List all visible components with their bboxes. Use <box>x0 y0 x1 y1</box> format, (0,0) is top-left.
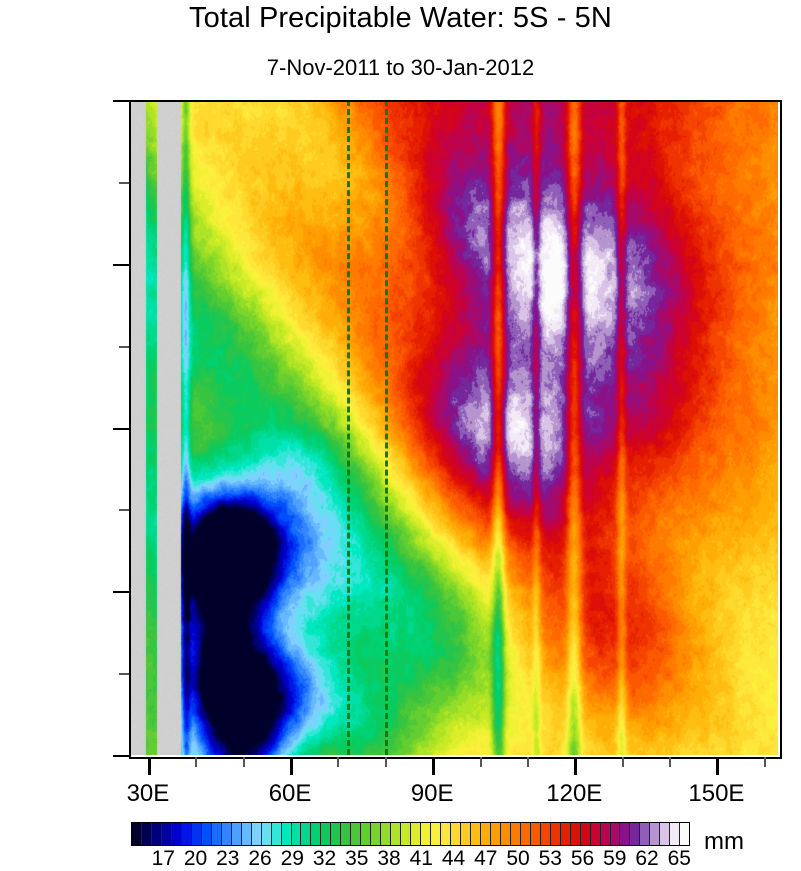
y-axis-major-tick <box>113 264 129 266</box>
colorbar-swatch <box>591 823 601 845</box>
colorbar-swatch <box>311 823 321 845</box>
colorbar-swatch <box>531 823 541 845</box>
colorbar-tick-label: 65 <box>649 847 709 871</box>
colorbar-swatch <box>491 823 501 845</box>
colorbar-swatch <box>401 823 411 845</box>
colorbar-swatch <box>361 823 371 845</box>
x-axis-major-tick <box>574 757 577 775</box>
x-axis-tick-label: 120E <box>514 780 634 808</box>
y-axis-minor-tick <box>119 673 129 675</box>
colorbar-swatch <box>481 823 491 845</box>
y-axis-minor-tick <box>119 509 129 511</box>
colorbar-swatch <box>541 823 551 845</box>
page-title: Total Precipitable Water: 5S - 5N <box>0 2 801 35</box>
colorbar-swatch <box>431 823 441 845</box>
colorbar-swatch <box>670 823 680 845</box>
colorbar-swatch <box>282 823 292 845</box>
x-axis-minor-tick <box>764 757 766 767</box>
colorbar-swatch <box>262 823 272 845</box>
colorbar-units-label: mm <box>704 828 744 856</box>
colorbar-swatch <box>301 823 311 845</box>
colorbar-swatch <box>451 823 461 845</box>
colorbar-swatch <box>411 823 421 845</box>
precipitable-water-heatmap <box>129 100 778 755</box>
x-axis-minor-tick <box>622 757 624 767</box>
colorbar-swatch <box>381 823 391 845</box>
x-axis-minor-tick <box>385 757 387 767</box>
colorbar-swatch <box>331 823 341 845</box>
y-axis-major-tick <box>113 428 129 430</box>
colorbar-swatch <box>660 823 670 845</box>
colorbar-swatch <box>132 823 142 845</box>
colorbar-swatch <box>242 823 252 845</box>
x-axis-minor-tick <box>669 757 671 767</box>
colorbar-swatch <box>521 823 531 845</box>
colorbar-swatch <box>202 823 212 845</box>
colorbar-swatch <box>272 823 282 845</box>
colorbar-swatch <box>581 823 591 845</box>
colorbar-swatch <box>391 823 401 845</box>
colorbar-swatch <box>630 823 640 845</box>
x-axis-major-tick <box>148 757 151 775</box>
reference-line <box>347 100 350 755</box>
x-axis-major-tick <box>432 757 435 775</box>
y-axis-minor-tick <box>119 346 129 348</box>
colorbar-swatch <box>252 823 262 845</box>
colorbar-swatch <box>222 823 232 845</box>
colorbar-swatch <box>650 823 660 845</box>
x-axis-tick-label: 30E <box>88 780 208 808</box>
colorbar <box>131 822 690 846</box>
colorbar-swatch <box>172 823 182 845</box>
colorbar-swatch <box>292 823 302 845</box>
colorbar-swatch <box>571 823 581 845</box>
x-axis-tick-label: 150E <box>656 780 776 808</box>
colorbar-swatch <box>611 823 621 845</box>
y-axis-major-tick <box>113 591 129 593</box>
date-range-subtitle: 7-Nov-2011 to 30-Jan-2012 <box>0 55 801 81</box>
x-axis-minor-tick <box>480 757 482 767</box>
colorbar-swatch <box>341 823 351 845</box>
colorbar-swatch <box>142 823 152 845</box>
colorbar-swatch <box>152 823 162 845</box>
colorbar-swatch <box>471 823 481 845</box>
x-axis-major-tick <box>716 757 719 775</box>
y-axis-major-tick <box>113 100 129 102</box>
colorbar-swatch <box>461 823 471 845</box>
colorbar-swatch <box>511 823 521 845</box>
x-axis-minor-tick <box>243 757 245 767</box>
colorbar-swatch <box>421 823 431 845</box>
x-axis-major-tick <box>290 757 293 775</box>
colorbar-swatch <box>501 823 511 845</box>
colorbar-swatch <box>371 823 381 845</box>
x-axis-tick-label: 60E <box>230 780 350 808</box>
reference-line <box>385 100 388 755</box>
colorbar-swatch <box>321 823 331 845</box>
colorbar-swatch <box>162 823 172 845</box>
colorbar-swatch <box>182 823 192 845</box>
colorbar-swatch <box>441 823 451 845</box>
y-axis-major-tick <box>113 755 129 757</box>
hovmoller-figure: Total Precipitable Water: 5S - 5N 7-Nov-… <box>0 0 801 867</box>
colorbar-swatch <box>192 823 202 845</box>
y-axis-minor-tick <box>119 182 129 184</box>
colorbar-swatch <box>551 823 561 845</box>
colorbar-swatch <box>232 823 242 845</box>
colorbar-swatch <box>680 823 689 845</box>
x-axis-minor-tick <box>527 757 529 767</box>
x-axis-minor-tick <box>337 757 339 767</box>
colorbar-swatch <box>601 823 611 845</box>
colorbar-swatch <box>351 823 361 845</box>
colorbar-swatch <box>640 823 650 845</box>
x-axis-tick-label: 90E <box>372 780 492 808</box>
colorbar-swatch <box>212 823 222 845</box>
hovmoller-plot-area <box>129 100 778 755</box>
x-axis-minor-tick <box>195 757 197 767</box>
colorbar-swatch <box>620 823 630 845</box>
colorbar-swatch <box>561 823 571 845</box>
